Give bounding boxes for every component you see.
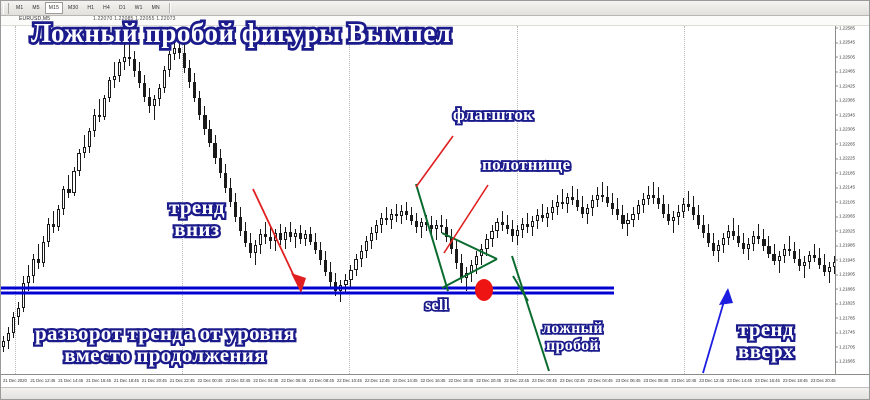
- time-tick: 23 Dec 20:45: [811, 378, 836, 383]
- candle-wick: [68, 175, 69, 199]
- time-tick: 23 Dec 00:45: [532, 378, 557, 383]
- candlestick: [314, 26, 317, 374]
- candle-body: [67, 189, 70, 193]
- candle-body: [435, 225, 438, 229]
- candlestick: [803, 26, 806, 374]
- false-breakout-callout: ложныйпробой: [542, 321, 603, 354]
- candlestick: [7, 26, 10, 374]
- candle-body: [677, 212, 680, 218]
- timeframe-button-h1[interactable]: H1: [83, 2, 98, 14]
- candlestick: [626, 26, 629, 374]
- candle-body: [521, 224, 524, 230]
- timeframe-button-m30[interactable]: M30: [64, 2, 82, 14]
- candle-body: [249, 243, 252, 253]
- candle-body: [516, 230, 519, 237]
- candlestick: [828, 26, 831, 374]
- time-tick: 22 Dec 08:45: [309, 378, 334, 383]
- candlestick: [460, 26, 463, 374]
- candle-body: [480, 249, 483, 256]
- timeframe-button-m5[interactable]: M5: [28, 2, 43, 14]
- candle-wick: [789, 236, 790, 256]
- price-tick: 1.22345: [839, 112, 855, 117]
- candle-body: [717, 245, 720, 251]
- price-tick: 1.21905: [839, 272, 855, 277]
- candle-body: [793, 251, 796, 258]
- candle-body: [511, 229, 514, 236]
- time-tick: 22 Dec 02:45: [225, 378, 250, 383]
- candle-body: [621, 215, 624, 223]
- candlestick: [324, 26, 327, 374]
- candle-body: [647, 195, 650, 200]
- candle-body: [299, 233, 302, 239]
- candlestick: [450, 26, 453, 374]
- candle-body: [490, 231, 493, 239]
- false-breakout-line-0: ложный: [542, 321, 603, 338]
- metatrader-chart-window: M1M5M15M30H1H4D1W1MN EURUSD,M5 1.22070 1…: [0, 0, 870, 400]
- candlestick: [732, 26, 735, 374]
- candlestick: [652, 26, 655, 374]
- candlestick: [823, 26, 826, 374]
- candle-body: [672, 217, 675, 221]
- candlestick: [667, 26, 670, 374]
- time-tick: 23 Dec 12:45: [699, 378, 724, 383]
- candlestick: [662, 26, 665, 374]
- candle-body: [813, 255, 816, 258]
- candle-body: [772, 254, 775, 261]
- time-tick: 21 Dec 14:45: [58, 378, 83, 383]
- candlestick: [606, 26, 609, 374]
- time-tick: 23 Dec 08:45: [643, 378, 668, 383]
- time-tick: 23 Dec 18:45: [783, 378, 808, 383]
- flagpole-callout: флагшток: [453, 106, 533, 124]
- price-tick: 1.21705: [839, 344, 855, 349]
- candlestick: [380, 26, 383, 374]
- candle-body: [697, 215, 700, 224]
- candle-body: [561, 202, 564, 205]
- candle-body: [828, 267, 831, 272]
- candle-wick: [99, 99, 100, 123]
- candlestick: [475, 26, 478, 374]
- status-bar: [1, 387, 870, 399]
- timeframe-button-m1[interactable]: M1: [12, 2, 27, 14]
- time-tick: 21 Dec 2020: [3, 378, 27, 383]
- candle-body: [213, 143, 216, 159]
- candle-body: [158, 88, 161, 100]
- candlestick: [536, 26, 539, 374]
- candle-body: [616, 209, 619, 215]
- candle-body: [143, 83, 146, 96]
- candle-body: [385, 218, 388, 220]
- time-tick: 22 Dec 20:45: [476, 378, 501, 383]
- candle-body: [269, 237, 272, 241]
- price-tick: 1.21785: [839, 315, 855, 320]
- candle-wick: [829, 262, 830, 284]
- candle-body: [103, 98, 106, 117]
- price-tick: 1.22465: [839, 69, 855, 74]
- candle-body: [742, 243, 745, 249]
- candle-body: [823, 265, 826, 272]
- price-tick: 1.21665: [839, 359, 855, 364]
- candle-body: [239, 217, 242, 230]
- candle-body: [47, 224, 50, 242]
- candle-body: [606, 197, 609, 203]
- trend-up-callout: трендвверх: [738, 319, 794, 363]
- candle-body: [788, 249, 791, 252]
- candle-body: [611, 203, 614, 209]
- candle-body: [289, 232, 292, 237]
- time-tick: 23 Dec 06:45: [616, 378, 641, 383]
- reversal-line-0: разворот тренда от уровня: [35, 323, 295, 345]
- candlestick: [425, 26, 428, 374]
- candle-body: [27, 276, 30, 283]
- candle-wick: [602, 182, 603, 202]
- candle-body: [642, 199, 645, 205]
- candle-body: [541, 215, 544, 219]
- time-tick: 23 Dec 16:45: [755, 378, 780, 383]
- price-tick: 1.22425: [839, 83, 855, 88]
- candlestick: [707, 26, 710, 374]
- candlestick: [521, 26, 524, 374]
- candle-wick: [38, 244, 39, 269]
- candle-body: [752, 236, 755, 244]
- candle-body: [354, 259, 357, 270]
- timeframe-button-m15[interactable]: M15: [45, 2, 63, 14]
- candle-body: [294, 233, 297, 237]
- candle-body: [62, 189, 65, 209]
- candlestick: [490, 26, 493, 374]
- candle-body: [128, 57, 131, 60]
- candle-body: [259, 234, 262, 245]
- candle-body: [138, 71, 141, 83]
- candlestick: [440, 26, 443, 374]
- timeframe-button-w1[interactable]: W1: [131, 2, 147, 14]
- candlestick: [22, 26, 25, 374]
- candle-body: [344, 280, 347, 285]
- candle-body: [319, 250, 322, 260]
- candle-wick: [627, 213, 628, 237]
- candlestick: [339, 26, 342, 374]
- candlestick: [27, 26, 30, 374]
- candle-wick: [502, 211, 503, 231]
- candlestick: [511, 26, 514, 374]
- time-tick: 22 Dec 18:45: [448, 378, 473, 383]
- candle-body: [400, 211, 403, 216]
- candle-body: [652, 195, 655, 199]
- candle-body: [707, 233, 710, 242]
- price-tick: 1.22585: [839, 25, 855, 30]
- candlestick: [818, 26, 821, 374]
- candle-body: [77, 153, 80, 171]
- candle-body: [254, 245, 257, 252]
- candle-body: [798, 259, 801, 266]
- candle-body: [712, 243, 715, 252]
- candle-body: [470, 265, 473, 272]
- candle-body: [274, 233, 277, 241]
- candle-wick: [396, 204, 397, 222]
- candlestick: [687, 26, 690, 374]
- time-tick: 23 Dec 02:45: [560, 378, 585, 383]
- candlestick: [616, 26, 619, 374]
- candle-body: [234, 202, 237, 218]
- candle-body: [113, 76, 116, 80]
- candlestick: [642, 26, 645, 374]
- price-tick: 1.22385: [839, 98, 855, 103]
- candle-body: [17, 308, 20, 317]
- candle-body: [501, 222, 504, 225]
- candle-wick: [255, 240, 256, 265]
- candlestick: [808, 26, 811, 374]
- candle-body: [450, 237, 453, 249]
- candle-wick: [814, 244, 815, 263]
- candle-body: [757, 236, 760, 239]
- price-tick: 1.22305: [839, 127, 855, 132]
- candlestick: [354, 26, 357, 374]
- trend-down-line-1: вниз: [169, 219, 225, 241]
- candle-body: [667, 214, 670, 221]
- candlestick: [344, 26, 347, 374]
- candle-body: [415, 221, 418, 227]
- candlestick: [631, 26, 634, 374]
- timeframe-button-h4[interactable]: H4: [99, 2, 114, 14]
- candle-wick: [386, 207, 387, 225]
- candle-body: [93, 115, 96, 131]
- candle-body: [440, 225, 443, 228]
- candle-wick: [733, 218, 734, 240]
- candle-body: [657, 198, 660, 204]
- toolbar-grip[interactable]: [3, 3, 9, 14]
- candle-body: [57, 209, 60, 227]
- candle-body: [727, 231, 730, 238]
- candle-body: [576, 200, 579, 207]
- candlestick: [405, 26, 408, 374]
- candle-wick: [114, 62, 115, 87]
- candlestick: [465, 26, 468, 374]
- price-tick: 1.21745: [839, 330, 855, 335]
- candlestick: [798, 26, 801, 374]
- toolbar-separator: [169, 3, 171, 13]
- candle-body: [365, 241, 368, 251]
- candle-wick: [562, 189, 563, 209]
- candle-body: [546, 213, 549, 218]
- price-tick: 1.22065: [839, 214, 855, 219]
- candlestick: [304, 26, 307, 374]
- candlestick: [445, 26, 448, 374]
- candlestick: [319, 26, 322, 374]
- time-tick: 21 Dec 20:45: [142, 378, 167, 383]
- time-tick: 22 Dec 12:45: [365, 378, 390, 383]
- candlestick: [712, 26, 715, 374]
- candlestick: [370, 26, 373, 374]
- price-tick: 1.22105: [839, 199, 855, 204]
- candle-body: [531, 221, 534, 227]
- candle-body: [581, 207, 584, 214]
- candlestick: [495, 26, 498, 374]
- candle-body: [153, 99, 156, 106]
- candlestick: [813, 26, 816, 374]
- candle-body: [460, 263, 463, 278]
- candle-body: [52, 224, 55, 228]
- candle-body: [133, 59, 136, 71]
- candle-body: [818, 258, 821, 265]
- candle-wick: [572, 186, 573, 206]
- candle-body: [208, 129, 211, 142]
- candlestick: [531, 26, 534, 374]
- candle-body: [425, 222, 428, 225]
- pennant-callout: полотнище: [482, 156, 570, 174]
- candle-body: [380, 218, 383, 225]
- candle-body: [370, 233, 373, 241]
- candle-body: [536, 215, 539, 222]
- candle-body: [732, 231, 735, 236]
- candle-body: [188, 68, 191, 83]
- candle-body: [32, 259, 35, 276]
- candle-wick: [421, 218, 422, 238]
- candlestick: [717, 26, 720, 374]
- candle-body: [702, 225, 705, 234]
- candle-wick: [804, 256, 805, 278]
- candle-body: [339, 285, 342, 291]
- candlestick: [365, 26, 368, 374]
- candle-body: [475, 256, 478, 265]
- candlestick: [309, 26, 312, 374]
- candle-wick: [748, 238, 749, 260]
- candle-wick: [758, 224, 759, 244]
- candle-body: [465, 273, 468, 278]
- candlestick: [657, 26, 660, 374]
- candlestick: [637, 26, 640, 374]
- candlestick: [677, 26, 680, 374]
- candle-body: [108, 80, 111, 97]
- candle-body: [551, 207, 554, 212]
- candlestick: [516, 26, 519, 374]
- timeframe-button-d1[interactable]: D1: [115, 2, 130, 14]
- candlestick: [506, 26, 509, 374]
- trend-up-line-0: тренд: [738, 319, 794, 341]
- candle-body: [98, 115, 101, 117]
- candle-body: [198, 98, 201, 115]
- price-tick: 1.22545: [839, 40, 855, 45]
- time-tick: 22 Dec 00:45: [198, 378, 223, 383]
- candle-body: [2, 341, 5, 347]
- candle-wick: [436, 220, 437, 240]
- time-axis[interactable]: 21 Dec 202021 Dec 12:4521 Dec 14:4521 De…: [1, 374, 870, 388]
- candle-body: [324, 260, 327, 272]
- candlestick: [435, 26, 438, 374]
- chart-title-callout: Ложный пробой фигуры Вымпел: [31, 19, 451, 47]
- price-tick: 1.22145: [839, 185, 855, 190]
- candle-body: [692, 207, 695, 215]
- candlestick: [12, 26, 15, 374]
- timeframe-button-mn[interactable]: MN: [148, 2, 164, 14]
- candle-body: [163, 70, 166, 87]
- candle-body: [83, 147, 86, 152]
- candlestick: [611, 26, 614, 374]
- candle-body: [455, 249, 458, 264]
- candlestick: [395, 26, 398, 374]
- candle-body: [762, 239, 765, 246]
- candlestick: [672, 26, 675, 374]
- candlestick: [621, 26, 624, 374]
- time-tick: 21 Dec 22:45: [170, 378, 195, 383]
- time-tick: 22 Dec 16:45: [420, 378, 445, 383]
- candle-body: [173, 48, 176, 55]
- candle-body: [747, 244, 750, 249]
- candle-body: [410, 215, 413, 221]
- candlestick: [420, 26, 423, 374]
- candle-wick: [295, 229, 296, 248]
- candlestick: [360, 26, 363, 374]
- candle-body: [596, 195, 599, 200]
- candle-body: [183, 53, 186, 68]
- false-breakout-line-1: пробой: [542, 338, 603, 355]
- candle-body: [12, 317, 15, 334]
- reversal-callout: разворот тренда от уровнявместо продолже…: [35, 323, 295, 367]
- candlestick: [375, 26, 378, 374]
- candle-body: [334, 282, 337, 292]
- candlestick: [485, 26, 488, 374]
- price-tick: 1.22505: [839, 54, 855, 59]
- candlestick: [385, 26, 388, 374]
- candle-body: [193, 82, 196, 98]
- candle-body: [42, 242, 45, 264]
- candle-body: [7, 333, 10, 340]
- candle-body: [118, 62, 121, 76]
- candle-wick: [688, 191, 689, 211]
- candle-body: [375, 225, 378, 233]
- candle-body: [395, 214, 398, 217]
- candle-body: [219, 158, 222, 173]
- candlestick: [647, 26, 650, 374]
- candle-body: [662, 204, 665, 213]
- candle-body: [767, 246, 770, 253]
- candle-wick: [673, 211, 674, 233]
- time-tick: 23 Dec 14:45: [727, 378, 752, 383]
- candle-body: [637, 205, 640, 213]
- candle-body: [485, 239, 488, 249]
- price-tick: 1.21865: [839, 286, 855, 291]
- candle-body: [778, 256, 781, 261]
- candle-body: [168, 54, 171, 70]
- candle-body: [687, 204, 690, 207]
- candlestick: [455, 26, 458, 374]
- timeframe-toolbar[interactable]: M1M5M15M30H1H4D1W1MN: [1, 1, 870, 16]
- candlestick: [390, 26, 393, 374]
- candlestick: [410, 26, 413, 374]
- candle-body: [631, 214, 634, 220]
- time-tick: 21 Dec 12:45: [30, 378, 55, 383]
- candle-body: [309, 234, 312, 241]
- candle-body: [430, 225, 433, 229]
- candle-wick: [466, 267, 467, 291]
- candle-wick: [653, 182, 654, 204]
- candlestick: [697, 26, 700, 374]
- candle-body: [722, 238, 725, 245]
- candlestick: [299, 26, 302, 374]
- price-tick: 1.21945: [839, 257, 855, 262]
- candle-body: [390, 214, 393, 220]
- candlestick: [722, 26, 725, 374]
- candle-body: [224, 173, 227, 189]
- candle-body: [148, 97, 151, 107]
- time-tick: 21 Dec 18:45: [114, 378, 139, 383]
- candlestick: [480, 26, 483, 374]
- price-axis[interactable]: 1.225851.225451.225051.224651.224251.223…: [835, 26, 869, 374]
- candle-body: [203, 115, 206, 130]
- candle-body: [360, 251, 363, 259]
- candlestick: [334, 26, 337, 374]
- candle-body: [445, 227, 448, 237]
- price-tick: 1.22265: [839, 141, 855, 146]
